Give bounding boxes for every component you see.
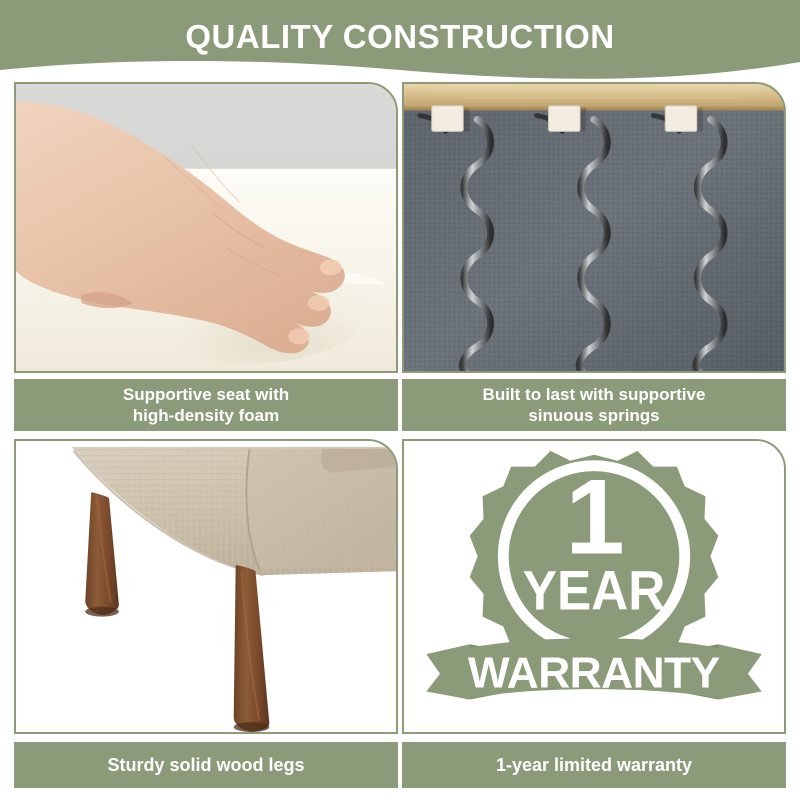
warranty-badge-graphic: 1 YEAR WARRANTY (404, 441, 784, 732)
page-title: QUALITY CONSTRUCTION (0, 17, 800, 57)
sinuous-springs-illustration (404, 84, 784, 371)
hand-pressing-foam-illustration (16, 84, 396, 371)
ribbon-label: WARRANTY (468, 649, 720, 698)
feature-panel-springs: Built to last with supportive sinuous sp… (402, 82, 786, 431)
foam-photo (14, 82, 398, 373)
badge-period: YEAR (523, 561, 665, 622)
feature-panel-foam: Supportive seat with high-density foam (14, 82, 398, 431)
legs-caption: Sturdy solid wood legs (14, 742, 398, 788)
feature-panel-warranty: 1 YEAR WARRANTY 1-year limited warranty (402, 439, 786, 788)
springs-caption-line1: Built to last with supportive (402, 384, 786, 405)
warranty-badge-area: 1 YEAR WARRANTY (402, 439, 786, 734)
solid-wood-legs-illustration (16, 441, 396, 732)
foam-caption-line2: high-density foam (14, 405, 398, 426)
badge-number: 1 (565, 457, 622, 576)
springs-caption: Built to last with supportive sinuous sp… (402, 379, 786, 431)
page-header: QUALITY CONSTRUCTION (0, 0, 800, 92)
warranty-ribbon: WARRANTY (426, 638, 761, 699)
springs-caption-line2: sinuous springs (402, 405, 786, 426)
feature-panel-legs: Sturdy solid wood legs (14, 439, 398, 788)
feature-grid: Supportive seat with high-density foam (14, 82, 786, 788)
warranty-caption: 1-year limited warranty (402, 742, 786, 788)
foam-caption: Supportive seat with high-density foam (14, 379, 398, 431)
foam-caption-line1: Supportive seat with (14, 384, 398, 405)
legs-photo (14, 439, 398, 734)
springs-photo (402, 82, 786, 373)
